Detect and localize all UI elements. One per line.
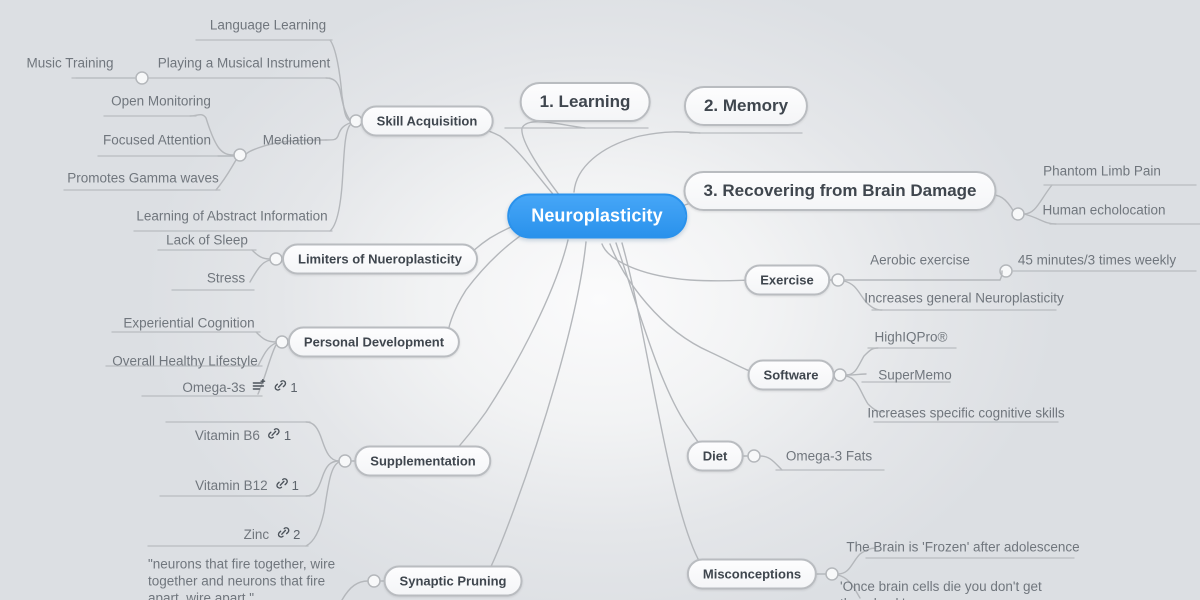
branch-diet-label: Diet <box>687 441 744 472</box>
branch-software[interactable]: Software <box>748 360 835 391</box>
leaf-overall-healthy-lifestyle-label: Overall Healthy Lifestyle <box>112 354 258 369</box>
branch-personal-development[interactable]: Personal Development <box>288 327 460 358</box>
branch-limiters-label: Limiters of Nueroplasticity <box>282 244 478 275</box>
link-icon <box>267 427 281 443</box>
leaf-zinc[interactable]: Zinc 2 <box>244 526 301 542</box>
leaf-open-monitoring-label: Open Monitoring <box>111 94 211 109</box>
leaf-playing-a-musical-instrument[interactable]: Playing a Musical Instrument <box>158 56 331 71</box>
leaf-omega-3s-label: Omega-3s <box>182 380 245 395</box>
leaf-supermemo[interactable]: SuperMemo <box>878 368 952 383</box>
link-icon <box>276 526 290 542</box>
leaf-music-training[interactable]: Music Training <box>26 56 113 71</box>
leaf-abstract-information-label: Learning of Abstract Information <box>136 209 327 224</box>
leaf-increases-general-neuroplasticity[interactable]: Increases general Neuroplasticity <box>864 291 1064 306</box>
leaf-45-minutes-label: 45 minutes/3 times weekly <box>1018 253 1176 268</box>
leaf-promotes-gamma-waves-label: Promotes Gamma waves <box>67 171 219 186</box>
leaf-omega-3-fats-label: Omega-3 Fats <box>786 449 872 464</box>
leaf-experiential-cognition-label: Experiential Cognition <box>123 316 254 331</box>
leaf-experiential-cognition[interactable]: Experiential Cognition <box>123 316 254 331</box>
link-badge[interactable]: 2 <box>276 526 300 542</box>
leaf-highiqpro[interactable]: HighIQPro® <box>875 330 948 345</box>
mindmap-canvas: Neuroplasticity 1. Learning 2. Memory 3.… <box>0 0 1200 600</box>
leaf-language-learning[interactable]: Language Learning <box>210 18 326 33</box>
leaf-phantom-limb-pain-label: Phantom Limb Pain <box>1043 164 1161 179</box>
topic-learning-label: 1. Learning <box>520 82 651 122</box>
leaf-aerobic-exercise-label: Aerobic exercise <box>870 253 970 268</box>
leaf-mediation[interactable]: Mediation <box>263 133 322 148</box>
leaf-vitamin-b6-label: Vitamin B6 <box>195 428 260 443</box>
branch-diet[interactable]: Diet <box>687 441 744 472</box>
leaf-learning-of-abstract-information[interactable]: Learning of Abstract Information <box>136 209 327 224</box>
leaf-human-echolocation[interactable]: Human echolocation <box>1042 203 1165 218</box>
leaf-lack-of-sleep-label: Lack of Sleep <box>166 233 248 248</box>
leaf-omega-3s[interactable]: Omega-3s 1 <box>182 379 297 395</box>
link-icon <box>273 379 287 395</box>
leaf-focused-attention[interactable]: Focused Attention <box>103 133 211 148</box>
root-node[interactable]: Neuroplasticity <box>507 194 687 239</box>
branch-supplementation-label: Supplementation <box>354 446 491 477</box>
branch-exercise[interactable]: Exercise <box>744 265 830 296</box>
leaf-45-minutes-3-times-weekly[interactable]: 45 minutes/3 times weekly <box>1018 253 1176 268</box>
leaf-neurons-quote[interactable]: "neurons that fire together, wire togeth… <box>148 556 348 600</box>
leaf-promotes-gamma-waves[interactable]: Promotes Gamma waves <box>67 171 219 186</box>
link-badge[interactable]: 1 <box>267 427 291 443</box>
leaf-open-monitoring[interactable]: Open Monitoring <box>111 94 211 109</box>
branch-limiters-of-nueroplasticity[interactable]: Limiters of Nueroplasticity <box>282 244 478 275</box>
leaf-once-brain-cells-die-label: 'Once brain cells die you don't get them… <box>840 579 1042 600</box>
leaf-language-learning-label: Language Learning <box>210 18 326 33</box>
branch-supplementation[interactable]: Supplementation <box>354 446 491 477</box>
leaf-highiqpro-label: HighIQPro® <box>875 330 948 345</box>
note-icon[interactable] <box>252 379 266 395</box>
branch-misconceptions[interactable]: Misconceptions <box>687 559 817 590</box>
leaf-omega-3-fats[interactable]: Omega-3 Fats <box>786 449 872 464</box>
leaf-brain-is-frozen[interactable]: The Brain is 'Frozen' after adolescence <box>846 540 1079 555</box>
leaf-human-echolocation-label: Human echolocation <box>1042 203 1165 218</box>
topic-recovering-label: 3. Recovering from Brain Damage <box>683 171 996 211</box>
leaf-music-training-label: Music Training <box>26 56 113 71</box>
link-badge[interactable]: 1 <box>273 379 297 395</box>
leaf-vitamin-b12-label: Vitamin B12 <box>195 478 268 493</box>
topic-learning[interactable]: 1. Learning <box>520 82 651 122</box>
link-count: 1 <box>290 380 297 395</box>
leaf-increases-general-label: Increases general Neuroplasticity <box>864 291 1064 306</box>
link-count: 1 <box>284 428 291 443</box>
leaf-supermemo-label: SuperMemo <box>878 368 952 383</box>
leaf-overall-healthy-lifestyle[interactable]: Overall Healthy Lifestyle <box>112 354 258 369</box>
leaf-stress[interactable]: Stress <box>207 271 245 286</box>
leaf-lack-of-sleep[interactable]: Lack of Sleep <box>166 233 248 248</box>
branch-software-label: Software <box>748 360 835 391</box>
link-badge[interactable]: 1 <box>275 477 299 493</box>
leaf-increases-specific-cognitive-skills[interactable]: Increases specific cognitive skills <box>867 406 1064 421</box>
branch-misconceptions-label: Misconceptions <box>687 559 817 590</box>
branch-exercise-label: Exercise <box>744 265 830 296</box>
branch-personal-development-label: Personal Development <box>288 327 460 358</box>
topic-memory[interactable]: 2. Memory <box>684 86 808 126</box>
leaf-vitamin-b12[interactable]: Vitamin B12 1 <box>195 477 299 493</box>
leaf-vitamin-b6[interactable]: Vitamin B6 1 <box>195 427 291 443</box>
leaf-neurons-quote-label: "neurons that fire together, wire togeth… <box>148 557 335 600</box>
branch-synaptic-pruning-label: Synaptic Pruning <box>384 566 523 597</box>
leaf-zinc-label: Zinc <box>244 527 270 542</box>
leaf-focused-attention-label: Focused Attention <box>103 133 211 148</box>
leaf-aerobic-exercise[interactable]: Aerobic exercise <box>870 253 970 268</box>
link-count: 2 <box>293 527 300 542</box>
leaf-playing-instrument-label: Playing a Musical Instrument <box>158 56 331 71</box>
branch-synaptic-pruning[interactable]: Synaptic Pruning <box>384 566 523 597</box>
leaf-mediation-label: Mediation <box>263 133 322 148</box>
branch-skill-acquisition[interactable]: Skill Acquisition <box>361 106 494 137</box>
link-count: 1 <box>292 478 299 493</box>
root-node-label: Neuroplasticity <box>507 194 687 239</box>
leaf-brain-is-frozen-label: The Brain is 'Frozen' after adolescence <box>846 540 1079 555</box>
topic-recovering-from-brain-damage[interactable]: 3. Recovering from Brain Damage <box>683 171 996 211</box>
link-icon <box>275 477 289 493</box>
leaf-stress-label: Stress <box>207 271 245 286</box>
topic-memory-label: 2. Memory <box>684 86 808 126</box>
leaf-increases-specific-label: Increases specific cognitive skills <box>867 406 1064 421</box>
leaf-phantom-limb-pain[interactable]: Phantom Limb Pain <box>1043 164 1161 179</box>
leaf-once-brain-cells-die[interactable]: 'Once brain cells die you don't get them… <box>840 578 1070 600</box>
branch-skill-acquisition-label: Skill Acquisition <box>361 106 494 137</box>
